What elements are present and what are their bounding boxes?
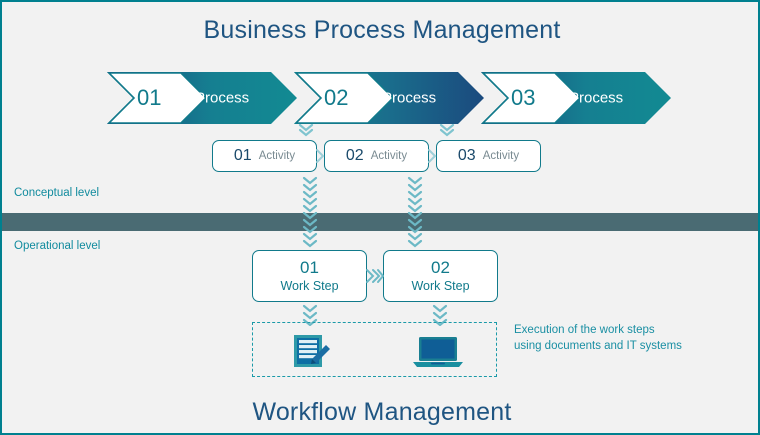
execution-note-line-1: Execution of the work steps bbox=[514, 322, 744, 338]
activity-label: Activity bbox=[259, 150, 295, 162]
level-label-operational: Operational level bbox=[14, 240, 100, 252]
process-arrow-03[interactable]: 03 Process bbox=[481, 72, 671, 124]
activity-label: Activity bbox=[371, 150, 407, 162]
document-pencil-icon bbox=[290, 333, 334, 369]
process-arrow-02[interactable]: 02 Process bbox=[294, 72, 484, 124]
laptop-icon bbox=[411, 335, 465, 369]
chevron-down-chain-activity-03 bbox=[407, 176, 423, 250]
process-number: 03 bbox=[511, 85, 535, 111]
process-label: Process bbox=[569, 90, 623, 107]
process-label: Process bbox=[382, 90, 436, 107]
activity-number: 03 bbox=[458, 147, 476, 165]
activity-box-02[interactable]: 02 Activity bbox=[324, 140, 429, 172]
diagram-canvas: Business Process Management 01 Process bbox=[0, 0, 760, 435]
work-step-label: Work Step bbox=[411, 278, 469, 294]
process-number: 01 bbox=[137, 85, 161, 111]
process-arrow-01[interactable]: 01 Process bbox=[107, 72, 297, 124]
page-title-bottom: Workflow Management bbox=[2, 398, 760, 427]
work-step-number: 01 bbox=[300, 258, 319, 278]
activity-box-03[interactable]: 03 Activity bbox=[436, 140, 541, 172]
page-title-top: Business Process Management bbox=[2, 16, 760, 45]
process-number: 02 bbox=[324, 85, 348, 111]
execution-note-line-2: using documents and IT systems bbox=[514, 338, 744, 354]
chevron-right-icon bbox=[427, 148, 437, 164]
work-step-label: Work Step bbox=[280, 278, 338, 294]
process-label: Process bbox=[195, 90, 249, 107]
level-divider-band bbox=[2, 213, 760, 231]
triple-chevron-right-icon bbox=[364, 266, 384, 286]
work-step-number: 02 bbox=[431, 258, 450, 278]
chevron-down-chain-process-03 bbox=[439, 122, 455, 138]
activity-number: 02 bbox=[346, 147, 364, 165]
chevron-down-chain-activity-02 bbox=[302, 176, 318, 250]
activity-box-01[interactable]: 01 Activity bbox=[212, 140, 317, 172]
chevron-down-chain-process-02 bbox=[298, 122, 314, 138]
work-step-box-02[interactable]: 02 Work Step bbox=[383, 250, 498, 302]
level-label-conceptual: Conceptual level bbox=[14, 187, 99, 199]
work-step-box-01[interactable]: 01 Work Step bbox=[252, 250, 367, 302]
chevron-right-icon bbox=[315, 148, 325, 164]
activity-label: Activity bbox=[483, 150, 519, 162]
execution-note: Execution of the work steps using docume… bbox=[514, 322, 744, 354]
activity-number: 01 bbox=[234, 147, 252, 165]
